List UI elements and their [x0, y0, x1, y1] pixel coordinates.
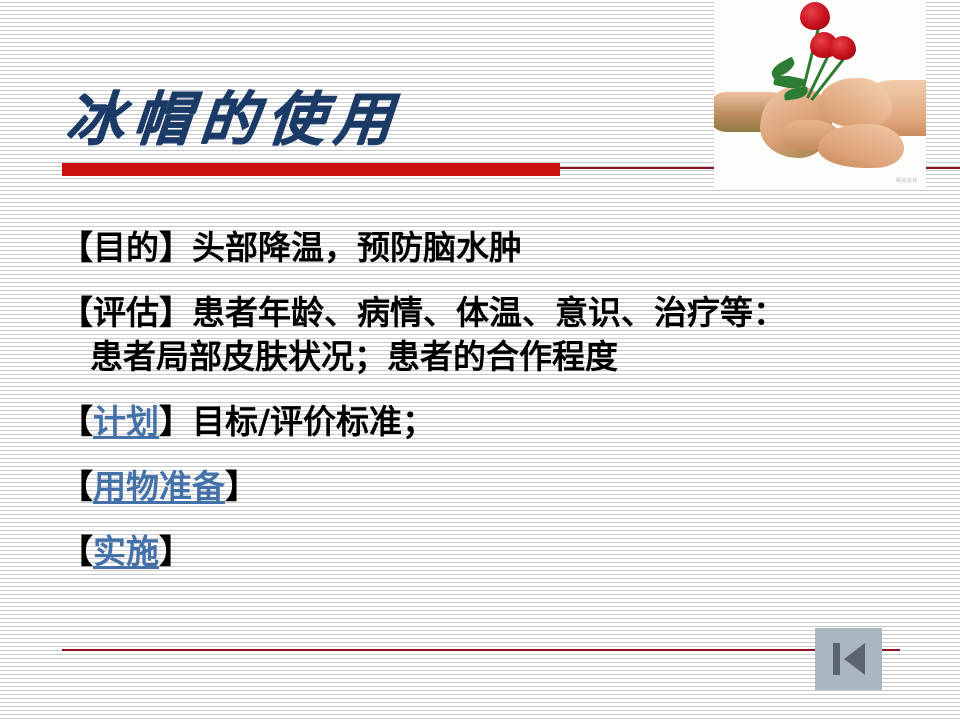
link-plan[interactable]: 计划 [93, 402, 159, 441]
rose-bloom [830, 36, 856, 60]
bullet-assessment-continued-text: 患者局部皮肤状况；患者的合作程度 [90, 337, 618, 376]
right-lower-hand-shape [818, 124, 904, 168]
skip-back-icon [829, 640, 869, 678]
line-gap [60, 270, 940, 291]
rose-bloom [800, 2, 830, 30]
line-gap [60, 509, 940, 530]
bullet-assessment-continued: 患者局部皮肤状况；患者的合作程度 [60, 335, 940, 379]
bullet-supplies: 【用物准备】 [60, 465, 940, 509]
link-implementation[interactable]: 实施 [93, 532, 159, 571]
bracket-close: 】 [225, 467, 258, 506]
bracket-open: 【 [60, 402, 93, 441]
line-gap [60, 379, 940, 400]
bullet-purpose-text: 【目的】头部降温，预防脑水肿 [60, 228, 522, 267]
bracket-open: 【 [60, 467, 93, 506]
image-watermark: 网站名称 [896, 177, 918, 184]
bullet-assessment: 【评估】患者年龄、病情、体温、意识、治疗等： [60, 291, 940, 335]
bracket-close: 】 [159, 532, 192, 571]
title-underline-accent-bar [62, 163, 560, 176]
title-block: 冰帽的使用 [62, 74, 682, 164]
right-palm-shape [818, 78, 892, 128]
slide-canvas: 冰帽的使用 网站名称 【目的】头部降温，预防脑水肿 【评估】患者年龄、病情、体温… [0, 0, 960, 720]
bullet-plan-text: 】目标/评价标准； [159, 402, 435, 441]
footer-divider [62, 649, 900, 651]
line-gap [60, 444, 940, 465]
nav-skip-back-button[interactable] [815, 628, 882, 690]
hero-image-hands-with-roses: 网站名称 [714, 0, 926, 190]
bracket-open: 【 [60, 532, 93, 571]
page-title: 冰帽的使用 [62, 74, 690, 164]
bullet-implementation: 【实施】 [60, 530, 940, 574]
bullet-purpose: 【目的】头部降温，预防脑水肿 [60, 226, 940, 270]
bullet-plan: 【计划】目标/评价标准； [60, 400, 940, 444]
link-supplies-preparation[interactable]: 用物准备 [93, 467, 225, 506]
bullet-assessment-text: 【评估】患者年龄、病情、体温、意识、治疗等： [60, 293, 786, 332]
slide-body: 【目的】头部降温，预防脑水肿 【评估】患者年龄、病情、体温、意识、治疗等： 患者… [60, 226, 940, 574]
